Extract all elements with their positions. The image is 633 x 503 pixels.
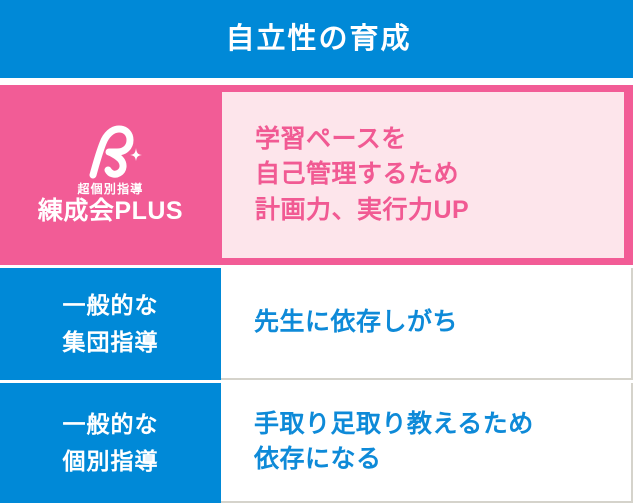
table-row: 超個別指導 練成会PLUS 学習ペースを 自己管理するため 計画力、実行力UP — [0, 85, 633, 265]
row-label-cell-group: 一般的な 集団指導 — [0, 268, 221, 380]
brand-logo: 超個別指導 練成会PLUS — [38, 123, 183, 224]
row-label-cell-private: 一般的な 個別指導 — [0, 383, 221, 503]
content-line: 学習ペースを — [255, 122, 624, 158]
table-row: 一般的な 集団指導 先生に依存しがち — [0, 268, 633, 380]
page-title: 自立性の育成 — [221, 25, 411, 54]
row-label-line: 一般的な — [63, 287, 159, 324]
row-content-cell-private: 手取り足取り教えるため 依存になる — [221, 383, 633, 503]
brand-name: 練成会PLUS — [38, 198, 183, 224]
brand-tagline: 超個別指導 — [77, 183, 143, 195]
renseikai-plus-r-mark-icon — [79, 123, 143, 179]
row-label-line: 個別指導 — [63, 443, 159, 480]
content-line: 先生に依存しがち — [254, 305, 458, 341]
row-label-line: 一般的な — [63, 406, 159, 443]
table-header: 自立性の育成 — [0, 0, 633, 78]
content-line: 計画力、実行力UP — [255, 193, 624, 229]
row-content-cell-group: 先生に依存しがち — [221, 268, 633, 380]
highlight-box: 学習ペースを 自己管理するため 計画力、実行力UP — [222, 92, 624, 258]
content-block: 先生に依存しがち — [254, 305, 458, 341]
content-line: 依存になる — [254, 442, 534, 478]
highlight-content-cell: 学習ペースを 自己管理するため 計画力、実行力UP — [221, 85, 633, 265]
table-row: 一般的な 個別指導 手取り足取り教えるため 依存になる — [0, 383, 633, 503]
row-label-line: 集団指導 — [63, 324, 159, 361]
comparison-table: 自立性の育成 超個別指導 練成会PLUS 学習ペースを 自己管理するため — [0, 0, 633, 503]
content-block: 手取り足取り教えるため 依存になる — [254, 407, 534, 478]
brand-label-cell: 超個別指導 練成会PLUS — [0, 85, 221, 265]
content-line: 自己管理するため — [255, 157, 624, 193]
content-line: 手取り足取り教えるため — [254, 407, 534, 443]
